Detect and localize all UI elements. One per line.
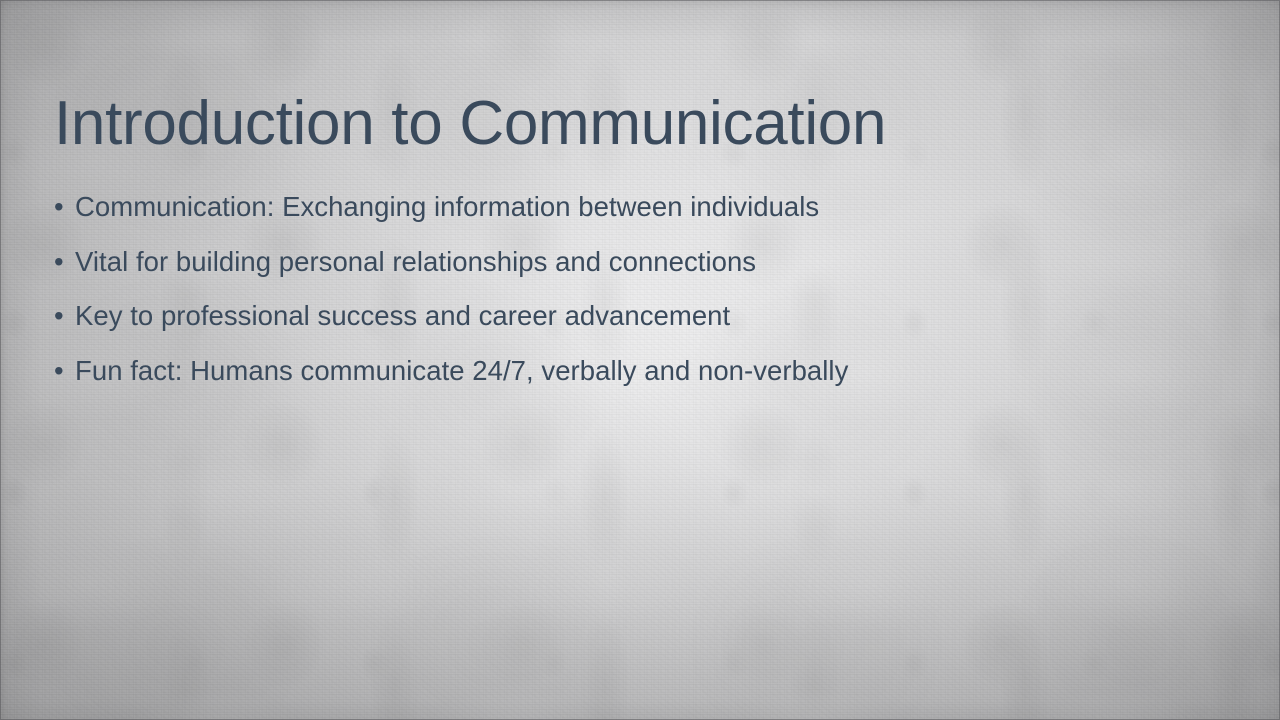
bullet-text-2: Vital for building personal relationship…	[75, 241, 756, 283]
slide-content: Introduction to Communication • Communic…	[0, 0, 1280, 720]
bullet-dot-icon: •	[54, 186, 75, 228]
bullet-item-4: • Fun fact: Humans communicate 24/7, ver…	[54, 350, 1214, 405]
bullet-text-3: Key to professional success and career a…	[75, 295, 730, 337]
bullet-text-4: Fun fact: Humans communicate 24/7, verba…	[75, 350, 848, 392]
bullet-text-1: Communication: Exchanging information be…	[75, 186, 819, 228]
slide-bullet-list: • Communication: Exchanging information …	[54, 186, 1214, 404]
presentation-slide: Introduction to Communication • Communic…	[0, 0, 1280, 720]
bullet-item-3: • Key to professional success and career…	[54, 295, 1214, 350]
bullet-dot-icon: •	[54, 295, 75, 337]
slide-title: Introduction to Communication	[54, 93, 1194, 155]
bullet-item-1: • Communication: Exchanging information …	[54, 186, 1214, 241]
bullet-dot-icon: •	[54, 350, 75, 392]
bullet-item-2: • Vital for building personal relationsh…	[54, 241, 1214, 296]
bullet-dot-icon: •	[54, 241, 75, 283]
